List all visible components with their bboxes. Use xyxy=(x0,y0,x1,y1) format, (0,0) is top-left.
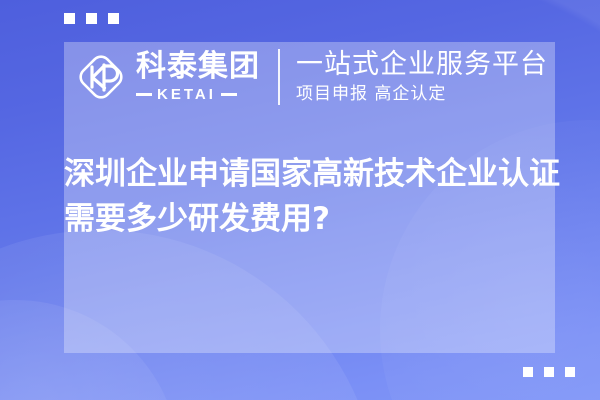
brand-name-en-row: KETAI xyxy=(136,87,260,102)
tagline-main: 一站式企业服务平台 xyxy=(296,50,548,80)
brand-name-cn: 科泰集团 xyxy=(136,52,260,82)
wordmark-rule-right-icon xyxy=(221,93,237,96)
tagline-sub: 项目申报 高企认定 xyxy=(296,84,548,104)
tagline-block: 一站式企业服务平台 项目申报 高企认定 xyxy=(296,50,548,105)
banner-image: 科泰集团 KETAI 一站式企业服务平台 项目申报 高企认定 深圳企业申请国家高… xyxy=(0,0,600,400)
wordmark-rule-left-icon xyxy=(136,93,152,96)
ketai-diamond-kp-monogram-icon xyxy=(74,50,128,104)
vertical-divider xyxy=(278,49,280,105)
brand-name-en: KETAI xyxy=(157,87,216,102)
square-dot-icon xyxy=(64,13,75,24)
square-dot-icon xyxy=(108,13,119,24)
brand-header: 科泰集团 KETAI 一站式企业服务平台 项目申报 高企认定 xyxy=(74,44,548,110)
square-dot-icon xyxy=(86,13,97,24)
decor-dots-top-left xyxy=(64,13,119,24)
square-dot-icon xyxy=(544,367,554,377)
decor-dots-bottom-right xyxy=(523,367,575,377)
square-dot-icon xyxy=(523,367,533,377)
brand-wordmark: 科泰集团 KETAI xyxy=(136,52,260,102)
square-dot-icon xyxy=(565,367,575,377)
page-title: 深圳企业申请国家高新技术企业认证需要多少研发费用? xyxy=(64,152,564,242)
